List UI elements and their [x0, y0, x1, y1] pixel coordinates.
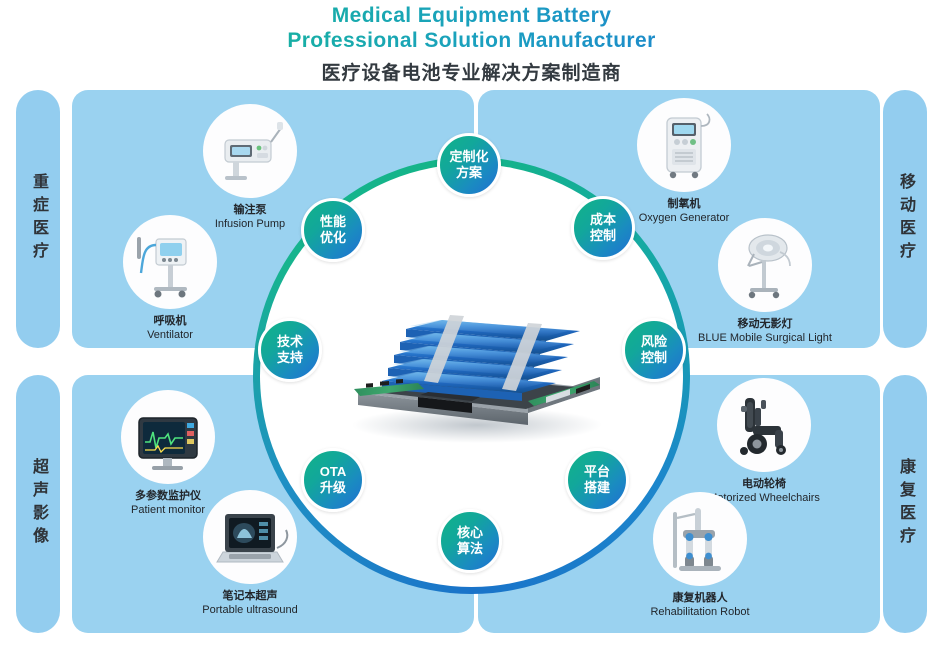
badge-line-1: 技术 — [277, 334, 303, 350]
title-line-chinese: 医疗设备电池专业解决方案制造商 — [0, 58, 943, 85]
equipment-label-cn: 电动轮椅 — [664, 477, 864, 491]
side-tab-label: 移动医疗 — [893, 173, 917, 265]
side-tab-label: 重症医疗 — [26, 173, 50, 265]
side-tab-critical-care[interactable]: 重症医疗 — [16, 90, 60, 348]
equipment-label-en: BLUE Mobile Surgical Light — [665, 331, 865, 346]
equipment-label-en: Portable ultrasound — [150, 603, 350, 618]
title-line-english-1: Medical Equipment Battery — [0, 4, 943, 29]
side-tab-mobile-medical[interactable]: 移动医疗 — [883, 90, 927, 348]
equipment-portable-ultrasound[interactable]: 笔记本超声 Portable ultrasound — [150, 490, 350, 618]
oxygen-generator-icon — [637, 98, 731, 192]
equipment-infusion-pump[interactable]: 输注泵 Infusion Pump — [150, 104, 350, 232]
side-tab-label: 超声影像 — [26, 458, 50, 550]
rehabilitation-robot-icon — [653, 492, 747, 586]
badge-line-2: 控制 — [641, 350, 667, 366]
side-tab-rehabilitation-medical[interactable]: 康复医疗 — [883, 375, 927, 633]
surgical-light-icon — [718, 218, 812, 312]
equipment-oxygen-generator[interactable]: 制氧机 Oxygen Generator — [584, 98, 784, 226]
badge-line-2: 支持 — [277, 350, 303, 366]
equipment-label-cn: 康复机器人 — [600, 591, 800, 605]
battery-pack-image — [332, 285, 614, 445]
equipment-rehabilitation-robot[interactable]: 康复机器人 Rehabilitation Robot — [600, 492, 800, 620]
badge-line-2: 优化 — [320, 230, 346, 246]
badge-core-algorithm[interactable]: 核心 算法 — [438, 509, 502, 573]
equipment-label-cn: 呼吸机 — [70, 314, 270, 328]
patient-monitor-icon — [121, 390, 215, 484]
infographic-canvas: Medical Equipment Battery Professional S… — [0, 0, 943, 645]
badge-line-1: 平台 — [584, 464, 610, 480]
equipment-label-cn: 制氧机 — [584, 197, 784, 211]
equipment-label-cn: 笔记本超声 — [150, 589, 350, 603]
badge-line-1: OTA — [320, 464, 346, 480]
equipment-ventilator[interactable]: 呼吸机 Ventilator — [70, 215, 270, 343]
badge-line-1: 定制化 — [449, 149, 488, 165]
equipment-label-cn: 移动无影灯 — [665, 317, 865, 331]
badge-line-2: 方案 — [456, 165, 482, 181]
equipment-motorized-wheelchair[interactable]: 电动轮椅 Motorized Wheelchairs — [664, 378, 864, 506]
badge-line-1: 核心 — [457, 525, 483, 541]
badge-line-1: 风险 — [641, 334, 667, 350]
side-tab-label: 康复医疗 — [893, 458, 917, 550]
ventilator-icon — [123, 215, 217, 309]
infusion-pump-icon — [203, 104, 297, 198]
badge-line-2: 算法 — [457, 541, 483, 557]
badge-custom-solution[interactable]: 定制化 方案 — [437, 133, 501, 197]
title-line-english-2: Professional Solution Manufacturer — [0, 29, 943, 54]
equipment-mobile-surgical-light[interactable]: 移动无影灯 BLUE Mobile Surgical Light — [665, 218, 865, 346]
portable-ultrasound-icon — [203, 490, 297, 584]
equipment-label-en: Ventilator — [70, 328, 270, 343]
page-title: Medical Equipment Battery Professional S… — [0, 4, 943, 85]
equipment-label-en: Rehabilitation Robot — [600, 605, 800, 620]
badge-line-2: 控制 — [590, 228, 616, 244]
side-tab-ultrasound-imaging[interactable]: 超声影像 — [16, 375, 60, 633]
wheelchair-icon — [717, 378, 811, 472]
